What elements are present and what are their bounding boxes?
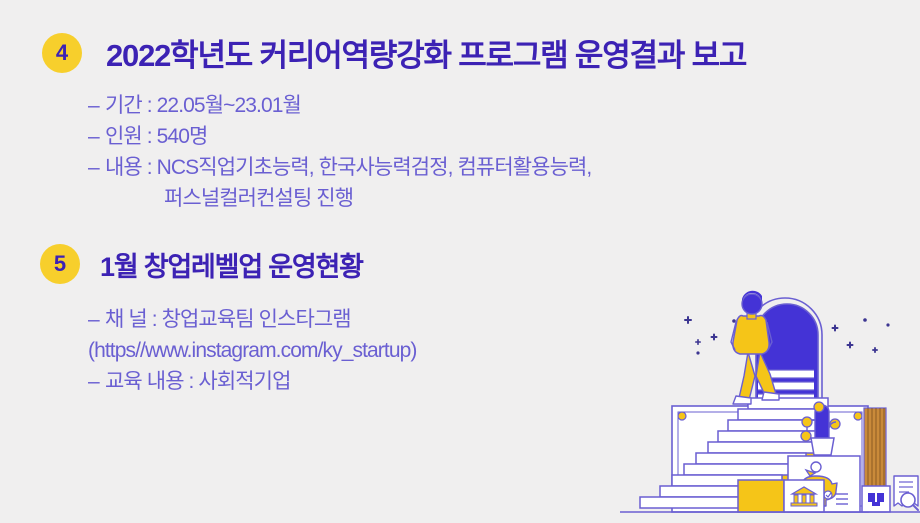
- section-5-title: 1월 창업레벨업 운영현황: [100, 245, 363, 284]
- bank-building-icon: [784, 480, 824, 512]
- bullet-text: (https//www.instagram.com/ky_startup): [88, 339, 416, 362]
- section-5-badge: 5: [40, 244, 80, 284]
- illustration-person-climbing-stairs: [620, 290, 920, 518]
- slide-canvas: 4 2022학년도 커리어역량강화 프로그램 운영결과 보고 –기간 : 22.…: [0, 0, 920, 518]
- bullet-text: 채 널 : 창업교육팀 인스타그램: [105, 308, 351, 331]
- section-4-badge: 4: [42, 33, 82, 73]
- bullet-text: 내용 : NCS직업기초능력, 한국사능력검정, 컴퓨터활용능력,: [105, 156, 591, 179]
- yellow-block: [738, 480, 784, 512]
- bullet-text: 기간 : 22.05월~23.01월: [105, 94, 301, 117]
- bullet-text: 인원 : 540명: [105, 125, 207, 148]
- section-4-header: 4 2022학년도 커리어역량강화 프로그램 운영결과 보고: [42, 30, 920, 75]
- bullet-text: 퍼스널컬러컨설팅 진행: [164, 187, 353, 210]
- section-4: 4 2022학년도 커리어역량강화 프로그램 운영결과 보고 –기간 : 22.…: [0, 0, 920, 45]
- bullet-item: –인원 : 540명: [88, 121, 591, 152]
- bullet-item: –채 널 : 창업교육팀 인스타그램: [88, 304, 416, 335]
- section-5-header: 5 1월 창업레벨업 운영현황: [40, 244, 920, 284]
- bullet-item: –기간 : 22.05월~23.01월: [88, 90, 591, 121]
- section-4-title: 2022학년도 커리어역량강화 프로그램 운영결과 보고: [106, 30, 746, 75]
- bookmark-box-icon: [862, 486, 890, 512]
- bullet-item-continuation: 퍼스널컬러컨설팅 진행: [88, 183, 591, 214]
- bullet-text: 교육 내용 : 사회적기업: [105, 370, 291, 393]
- instagram-url: (https//www.instagram.com/ky_startup): [88, 335, 416, 366]
- bullet-item: –내용 : NCS직업기초능력, 한국사능력검정, 컴퓨터활용능력,: [88, 152, 591, 183]
- document-magnifier-icon: [894, 476, 918, 510]
- section-5-bullets: –채 널 : 창업교육팀 인스타그램 (https//www.instagram…: [88, 304, 416, 397]
- section-4-bullets: –기간 : 22.05월~23.01월 –인원 : 540명 –내용 : NCS…: [88, 90, 591, 214]
- bullet-dash: –: [88, 304, 105, 335]
- bullet-item: –교육 내용 : 사회적기업: [88, 366, 416, 397]
- bullet-dash: –: [88, 152, 105, 183]
- bullet-dash: –: [88, 366, 105, 397]
- section-5: 5 1월 창업레벨업 운영현황 –채 널 : 창업교육팀 인스타그램 (http…: [0, 232, 920, 272]
- bullet-dash: –: [88, 90, 105, 121]
- bullet-dash: –: [88, 121, 105, 152]
